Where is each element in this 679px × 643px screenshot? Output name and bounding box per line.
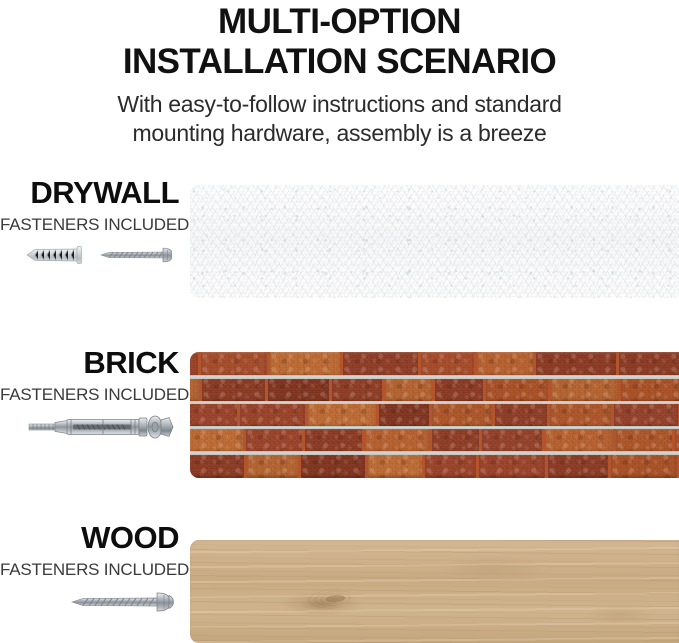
header: MULTI-OPTION INSTALLATION SCENARIO With … bbox=[0, 0, 679, 148]
brick-course bbox=[190, 402, 679, 427]
brick-course bbox=[190, 428, 679, 453]
sleeve-anchor-icon bbox=[27, 415, 177, 439]
material-row-wood: WOOD FASTENERS INCLUDED bbox=[0, 520, 679, 643]
brick bbox=[479, 453, 545, 478]
mortar-joint bbox=[190, 401, 679, 405]
wood-texture-panel bbox=[190, 540, 679, 643]
brick bbox=[332, 377, 382, 402]
brick-course bbox=[190, 377, 679, 402]
wood-screw-icon bbox=[69, 590, 177, 614]
brick bbox=[432, 428, 480, 453]
brick bbox=[190, 453, 244, 478]
brick-courses bbox=[190, 352, 679, 478]
wood-label-column: WOOD FASTENERS INCLUDED bbox=[0, 520, 183, 614]
material-name-brick: BRICK bbox=[0, 345, 179, 381]
brick bbox=[425, 453, 476, 478]
brick bbox=[246, 428, 302, 453]
material-row-brick: BRICK FASTENERS INCLUDED bbox=[0, 345, 679, 485]
brick bbox=[675, 428, 679, 453]
brick bbox=[551, 377, 618, 402]
brick bbox=[482, 428, 542, 453]
brick bbox=[202, 377, 266, 402]
brick bbox=[619, 352, 679, 377]
brick bbox=[268, 377, 329, 402]
material-sublabel-wood: FASTENERS INCLUDED bbox=[0, 559, 179, 580]
brick bbox=[201, 352, 267, 377]
brick bbox=[536, 352, 616, 377]
brick bbox=[247, 453, 298, 478]
brick bbox=[308, 402, 375, 427]
installation-scenario-infographic: MULTI-OPTION INSTALLATION SCENARIO With … bbox=[0, 0, 679, 643]
material-sublabel-brick: FASTENERS INCLUDED bbox=[0, 384, 179, 405]
drywall-fastener-tray bbox=[0, 245, 179, 265]
brick-label-column: BRICK FASTENERS INCLUDED bbox=[0, 345, 183, 439]
brick bbox=[305, 428, 361, 453]
page-subtitle-line-2: mounting hardware, assembly is a breeze bbox=[0, 119, 679, 148]
brick bbox=[343, 352, 419, 377]
mortar-joint bbox=[190, 451, 679, 455]
brick bbox=[435, 377, 483, 402]
brick bbox=[477, 352, 533, 377]
brick bbox=[379, 402, 429, 427]
brick bbox=[550, 402, 611, 427]
brick bbox=[385, 377, 431, 402]
screw-icon bbox=[97, 245, 177, 265]
wall-anchor-icon bbox=[25, 245, 89, 265]
brick bbox=[301, 453, 365, 478]
brick bbox=[432, 402, 492, 427]
brick-texture-panel bbox=[190, 352, 679, 478]
material-sublabel-drywall: FASTENERS INCLUDED bbox=[0, 214, 179, 235]
brick bbox=[616, 428, 672, 453]
page-title-line-2: INSTALLATION SCENARIO bbox=[0, 42, 679, 82]
brick-course bbox=[190, 453, 679, 478]
drywall-label-column: DRYWALL FASTENERS INCLUDED bbox=[0, 175, 183, 265]
drywall-texture-panel bbox=[190, 185, 679, 298]
wood-knot bbox=[307, 588, 354, 611]
material-row-drywall: DRYWALL FASTENERS INCLUDED bbox=[0, 175, 679, 315]
page-subtitle-line-1: With easy-to-follow instructions and sta… bbox=[0, 90, 679, 119]
brick bbox=[190, 428, 243, 453]
brick bbox=[495, 402, 548, 427]
brick-course bbox=[190, 352, 679, 377]
wood-fastener-tray bbox=[0, 590, 179, 614]
brick bbox=[190, 377, 199, 402]
mortar-joint bbox=[190, 375, 679, 379]
brick bbox=[270, 352, 340, 377]
brick bbox=[486, 377, 549, 402]
brick bbox=[365, 428, 429, 453]
brick-fastener-tray bbox=[0, 415, 179, 439]
page-title-line-1: MULTI-OPTION bbox=[0, 2, 679, 42]
brick bbox=[614, 402, 678, 427]
brick bbox=[548, 453, 608, 478]
material-name-wood: WOOD bbox=[0, 520, 179, 556]
brick bbox=[545, 428, 613, 453]
brick bbox=[368, 453, 422, 478]
brick bbox=[621, 377, 679, 402]
brick bbox=[190, 402, 237, 427]
brick bbox=[421, 352, 473, 377]
brick bbox=[190, 352, 198, 377]
brick bbox=[611, 453, 678, 478]
brick bbox=[240, 402, 306, 427]
mortar-joint bbox=[190, 426, 679, 430]
material-name-drywall: DRYWALL bbox=[0, 175, 179, 211]
